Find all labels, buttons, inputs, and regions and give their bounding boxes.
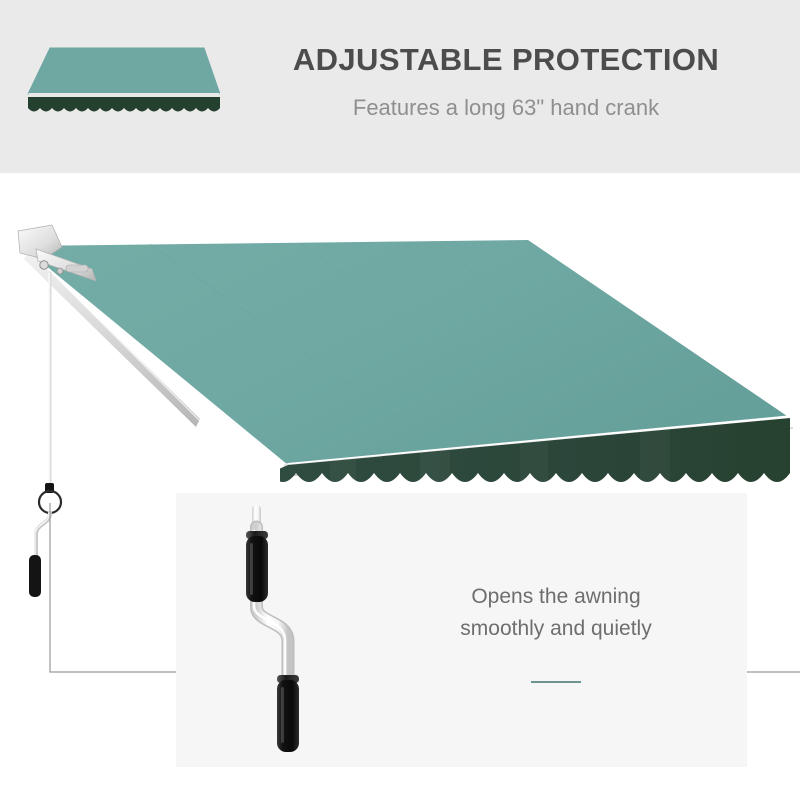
product-feature-image: ADJUSTABLE PROTECTION Features a long 63… bbox=[0, 0, 800, 800]
awning-thumbnail-icon bbox=[8, 46, 220, 114]
page-subtitle: Features a long 63" hand crank bbox=[226, 94, 786, 122]
header-text-block: ADJUSTABLE PROTECTION Features a long 63… bbox=[226, 40, 786, 122]
inset-caption: Opens the awning smoothly and quietly bbox=[396, 581, 716, 645]
inset-caption-line-2: smoothly and quietly bbox=[396, 613, 716, 645]
caption-divider bbox=[531, 681, 581, 683]
inset-caption-line-1: Opens the awning bbox=[396, 581, 716, 613]
page-title: ADJUSTABLE PROTECTION bbox=[226, 40, 786, 80]
feature-inset-panel: Opens the awning smoothly and quietly bbox=[176, 493, 747, 767]
header-band: ADJUSTABLE PROTECTION Features a long 63… bbox=[0, 0, 800, 173]
hand-crank-handle-icon bbox=[216, 503, 376, 763]
crank-eyelet-hook-icon bbox=[29, 483, 61, 597]
